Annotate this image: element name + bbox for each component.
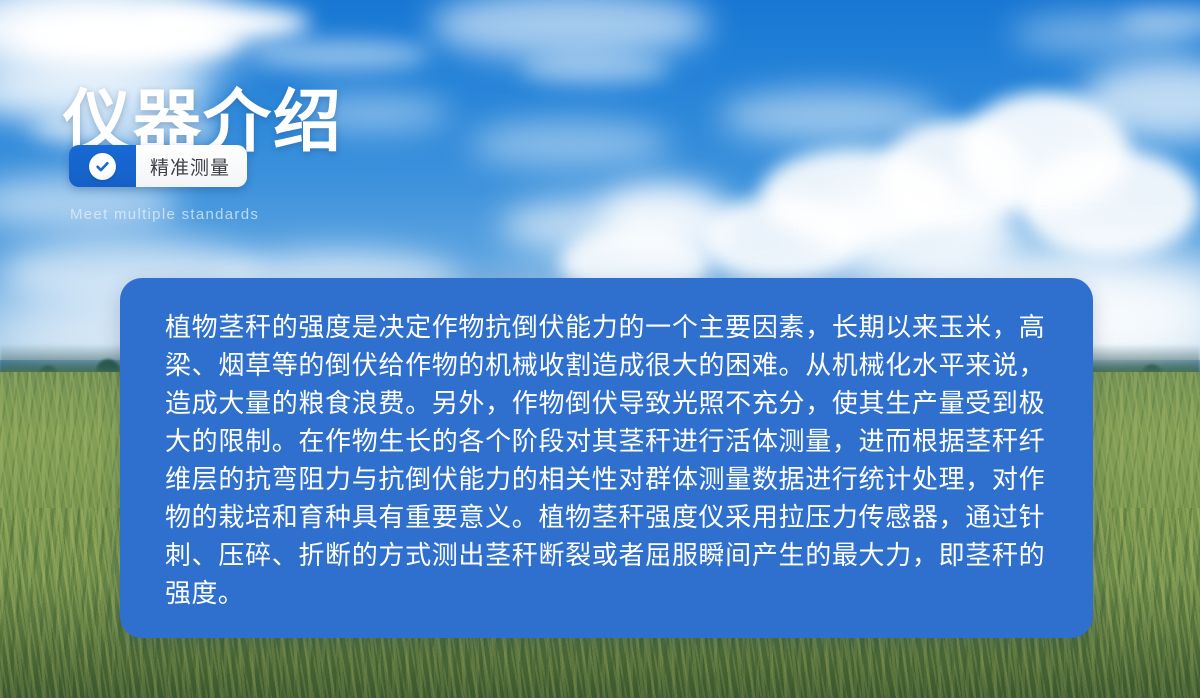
badge-label-container: 精准测量 (136, 145, 247, 187)
description-panel: 植物茎秆的强度是决定作物抗倒伏能力的一个主要因素，长期以来玉米，高梁、烟草等的倒… (120, 278, 1093, 638)
check-circle-icon (89, 153, 116, 180)
instrument-intro-banner: 仪器介绍 精准测量 Meet multiple standards 植物茎秆的强… (0, 0, 1200, 698)
accuracy-badge: 精准测量 (69, 145, 247, 187)
badge-icon-container (69, 145, 136, 187)
badge-label: 精准测量 (150, 153, 230, 180)
subtitle-english: Meet multiple standards (70, 206, 259, 223)
description-text: 植物茎秆的强度是决定作物抗倒伏能力的一个主要因素，长期以来玉米，高梁、烟草等的倒… (165, 308, 1045, 612)
